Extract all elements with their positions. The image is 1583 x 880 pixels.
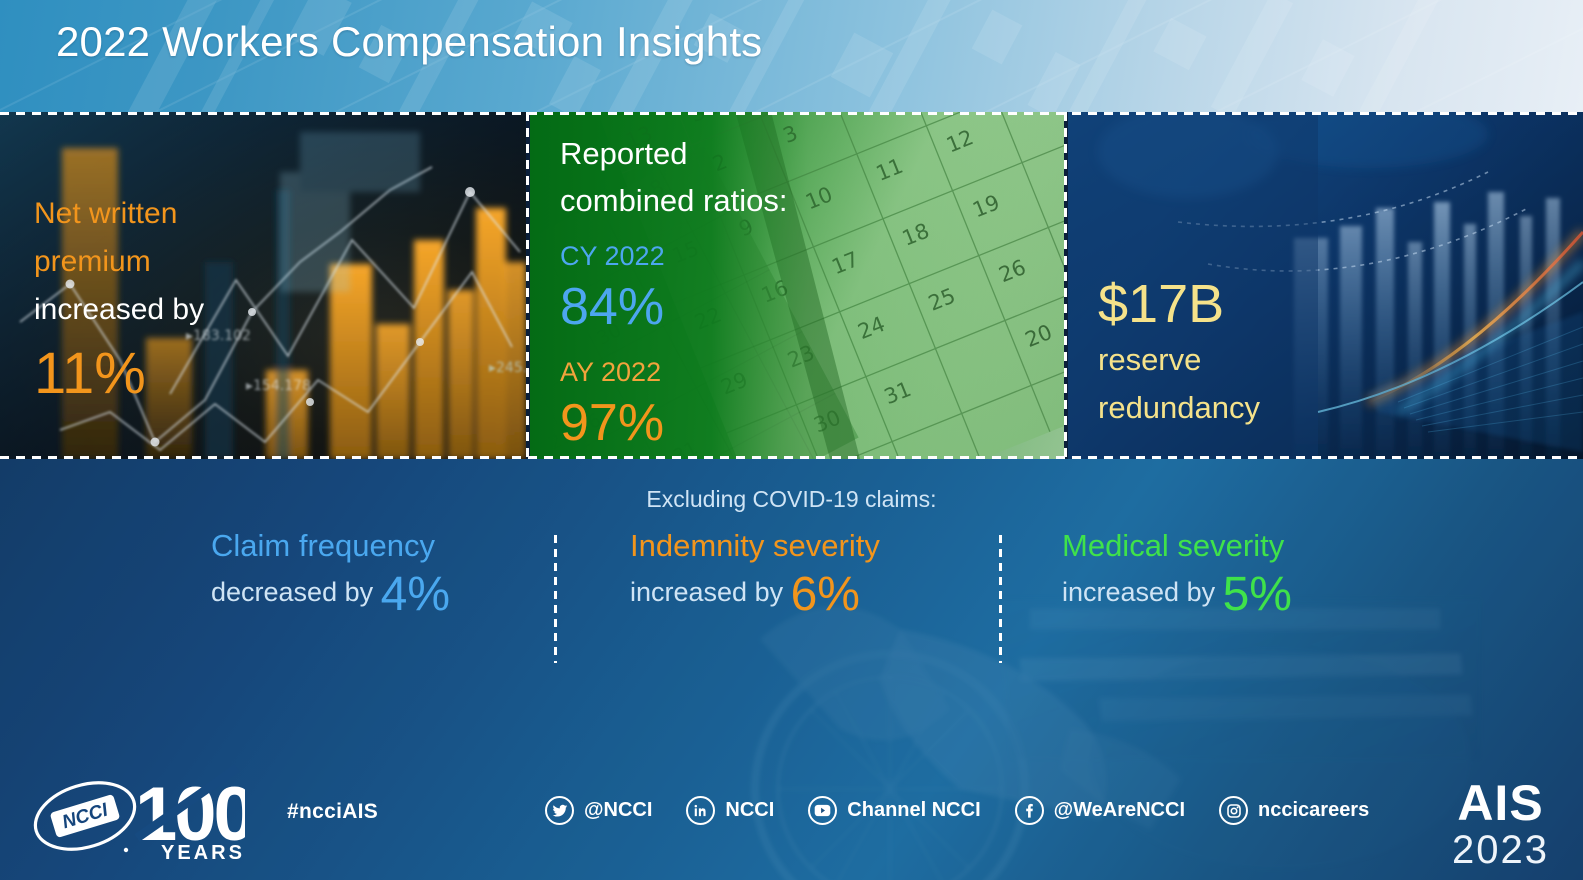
panel-net-written-premium: ▸183.102 ▸154.178 ▸245.5 Net written pre… (0, 112, 526, 459)
panel1-line1: Net written (34, 190, 204, 238)
panel2-ay-label: AY 2022 (560, 352, 787, 392)
stat-medical-severity-value: 5% (1223, 568, 1292, 621)
stat-divider-2 (999, 535, 1002, 663)
ais-event-name: AIS (1452, 778, 1549, 828)
social-instagram[interactable]: nccicareers (1219, 796, 1369, 825)
stat-indemnity-severity-line: increased by 6% (630, 569, 880, 618)
social-links: @NCCI NCCI Channel NCCI (545, 796, 1369, 825)
facebook-icon[interactable] (1015, 796, 1044, 825)
page-footer: NCCI 100 YEARS #ncciAIS @NCCI NCCI (0, 750, 1583, 880)
panel2-heading-line2: combined ratios: (560, 177, 787, 224)
panel1-line2: premium (34, 238, 204, 286)
infographic-root: 2022 Workers Compensation Insights (0, 0, 1583, 880)
social-facebook-label: @WeAreNCCI (1054, 799, 1185, 822)
svg-text:YEARS: YEARS (161, 842, 245, 864)
hashtag-label: #ncciAIS (287, 800, 378, 824)
stat-indemnity-severity-title: Indemnity severity (630, 523, 880, 569)
twitter-icon[interactable] (545, 796, 574, 825)
svg-text:▸245.5: ▸245.5 (489, 360, 526, 376)
stat-medical-severity-line: increased by 5% (1062, 569, 1292, 618)
stat-claim-frequency-title: Claim frequency (211, 523, 450, 569)
stat-claim-frequency-direction: decreased by (211, 577, 373, 607)
panel-reserve-redundancy: $17B reserve redundancy (1068, 112, 1583, 459)
panel3-value: $17B (1098, 272, 1260, 336)
social-instagram-label: nccicareers (1258, 799, 1369, 822)
instagram-icon[interactable] (1219, 796, 1248, 825)
stat-panel-row: ▸183.102 ▸154.178 ▸245.5 Net written pre… (0, 112, 1583, 459)
panel2-text-block: Reported combined ratios: CY 2022 84% AY… (560, 130, 787, 454)
linkedin-icon[interactable] (686, 796, 715, 825)
stat-indemnity-severity: Indemnity severity increased by 6% (630, 523, 880, 618)
social-youtube-label: Channel NCCI (847, 799, 980, 822)
panel3-text-block: $17B reserve redundancy (1098, 272, 1260, 432)
panel1-text-block: Net written premium increased by 11% (34, 190, 204, 410)
panel1-line3: increased by (34, 286, 204, 334)
social-facebook[interactable]: @WeAreNCCI (1015, 796, 1185, 825)
panel1-value: 11% (34, 338, 204, 410)
stat-medical-severity-direction: increased by (1062, 577, 1215, 607)
panel-divider-2 (1064, 112, 1067, 459)
page-title: 2022 Workers Compensation Insights (56, 18, 762, 66)
social-linkedin[interactable]: NCCI (686, 796, 774, 825)
stat-divider-1 (554, 535, 557, 663)
stat-indemnity-severity-direction: increased by (630, 577, 783, 607)
panel3-line1: reserve (1098, 336, 1260, 384)
social-twitter[interactable]: @NCCI (545, 796, 652, 825)
stat-indemnity-severity-value: 6% (791, 568, 860, 621)
stat-claim-frequency-value: 4% (381, 568, 450, 621)
page-header: 2022 Workers Compensation Insights (0, 0, 1583, 112)
panel-combined-ratios: SUNMONTUEWE 234 9101112 16171819 2324252… (530, 112, 1064, 459)
svg-text:▸154.178: ▸154.178 (246, 378, 311, 394)
100-years-logo: 100 YEARS (133, 764, 245, 864)
covid-exclusion-note: Excluding COVID-19 claims: (0, 486, 1583, 513)
panel2-cy-label: CY 2022 (560, 236, 787, 276)
social-twitter-label: @NCCI (584, 799, 652, 822)
ncci-logo[interactable]: NCCI (30, 770, 140, 862)
panel-row-bottom-divider (0, 456, 1583, 459)
panel2-heading-line1: Reported (560, 130, 787, 177)
panel2-cy-value: 84% (560, 276, 787, 338)
ais-event-year: 2023 (1452, 830, 1549, 870)
stat-claim-frequency-line: decreased by 4% (211, 569, 450, 618)
youtube-icon[interactable] (808, 796, 837, 825)
stat-medical-severity: Medical severity increased by 5% (1062, 523, 1292, 618)
social-youtube[interactable]: Channel NCCI (808, 796, 980, 825)
panel-row-top-divider (0, 112, 1583, 115)
panel2-ay-value: 97% (560, 392, 787, 454)
panel3-line2: redundancy (1098, 384, 1260, 432)
social-linkedin-label: NCCI (725, 799, 774, 822)
panel-divider-1 (526, 112, 529, 459)
ais-event-logo: AIS 2023 (1452, 778, 1549, 870)
stat-claim-frequency: Claim frequency decreased by 4% (211, 523, 450, 618)
stat-medical-severity-title: Medical severity (1062, 523, 1292, 569)
